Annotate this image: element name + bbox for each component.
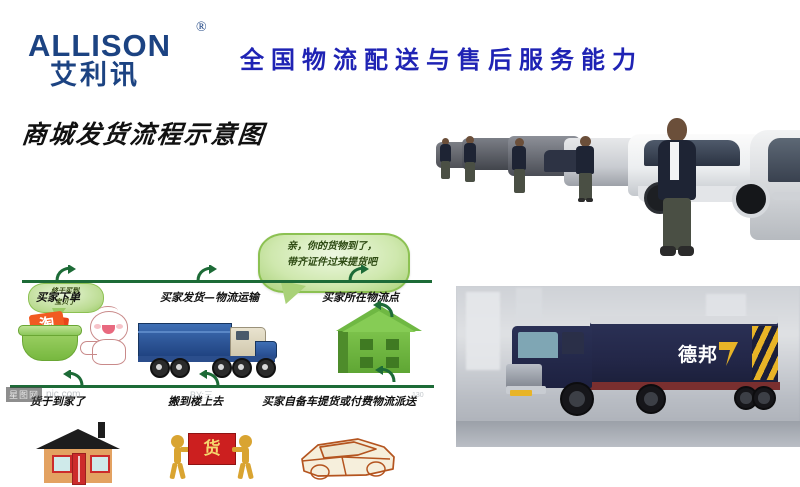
staff-trousers xyxy=(663,198,691,250)
semi-truck-icon xyxy=(138,319,280,377)
speech-bubble-line1: 亲，你的货物到了， xyxy=(262,239,402,255)
truck-wheel xyxy=(170,358,190,378)
truck-wheel xyxy=(752,386,776,410)
customer-hair xyxy=(98,306,118,316)
staff-jacket-placket xyxy=(670,142,679,180)
truck-window xyxy=(236,331,249,340)
staff-member xyxy=(510,138,528,194)
flow-arrow-icon xyxy=(372,301,394,319)
watermark-small-text: BY:三 xyxy=(190,388,213,401)
trailer-top-rail xyxy=(590,316,778,324)
diagram-title: 商城发货流程示意图 xyxy=(20,115,267,151)
cab-side-window xyxy=(562,332,584,354)
van-door-handle xyxy=(772,192,800,200)
deppon-logo-text: 德邦 xyxy=(678,340,718,367)
step-label-row1-0: 买家下单 xyxy=(36,289,80,305)
warehouse-window xyxy=(360,339,373,350)
truck-wheel xyxy=(560,382,594,416)
staff-shoe xyxy=(586,198,593,202)
staff-legs xyxy=(465,162,475,182)
truck-wheel xyxy=(636,384,666,414)
truck-wheel xyxy=(256,358,276,378)
staff-head xyxy=(667,118,687,142)
cargo-box-label: 货 xyxy=(189,434,235,464)
carrier-figure-left xyxy=(168,435,188,479)
customer-cheek-right xyxy=(116,324,123,329)
staff-torso xyxy=(512,146,526,170)
warehouse-window xyxy=(360,357,373,368)
deppon-logistics-truck-photo: 德邦 xyxy=(456,286,800,447)
license-plate xyxy=(510,390,532,396)
staff-torso xyxy=(576,146,594,174)
home-window xyxy=(90,455,110,473)
registered-trademark-icon: ® xyxy=(196,20,207,36)
step-label-row2-2: 买家自备车提货或付费物流派送 xyxy=(262,393,416,409)
two-carriers-icon: 货 xyxy=(168,431,256,483)
watermark-badge-group: 星图网 pic.com xyxy=(6,386,256,402)
speech-bubble-tail-icon xyxy=(276,281,306,308)
warehouse-window xyxy=(386,339,399,350)
carrier-figure-right xyxy=(236,435,256,479)
road-surface xyxy=(456,421,800,447)
slide-root: ALLISON ® 艾利讯 全国物流配送与售后服务能力 商城发货流程示意图 终于… xyxy=(0,0,800,450)
truck-trailer-band xyxy=(138,331,230,333)
flow-rail-top xyxy=(22,280,432,283)
carrier-leg xyxy=(177,463,186,480)
logo-wordmark: ALLISON xyxy=(28,30,171,61)
watermark-url: pic.com xyxy=(46,389,80,400)
logo-chinese-name: 艾利讯 xyxy=(50,62,140,89)
step-label-row1-1: 买家发货—物流运输 xyxy=(160,289,259,305)
shipping-flow-diagram: 商城发货流程示意图 终于买到 宝贝了 淘 xyxy=(0,105,440,420)
service-fleet-photo xyxy=(432,112,800,270)
staff-legs xyxy=(514,169,525,193)
flow-arrow-icon xyxy=(348,265,370,283)
truck-wheel xyxy=(150,358,170,378)
staff-legs xyxy=(441,161,450,179)
customer-cheek-left xyxy=(94,324,101,329)
carrier-leg xyxy=(169,463,177,480)
truck-trailer xyxy=(138,323,232,358)
cab-windshield xyxy=(518,332,558,358)
staff-member-foreground xyxy=(656,118,698,260)
deppon-swoosh-icon xyxy=(718,338,738,366)
basket-lip xyxy=(18,325,82,336)
sketch-car-icon xyxy=(296,431,400,485)
home-door xyxy=(72,453,86,485)
company-logo: ALLISON ® 艾利讯 xyxy=(28,16,218,90)
flow-arrow-icon xyxy=(55,265,77,283)
vehicle-wheel xyxy=(732,180,770,218)
staff-member xyxy=(574,136,596,202)
truck-wheel xyxy=(232,358,252,378)
home-icon xyxy=(36,429,120,487)
carrier-leg xyxy=(245,463,254,480)
customer-arm xyxy=(80,341,97,355)
speech-bubble-text: 亲，你的货物到了， 带齐证件过来提货吧 xyxy=(262,239,402,270)
page-title: 全国物流配送与售后服务能力 xyxy=(240,40,760,75)
flow-arrow-icon xyxy=(374,366,396,384)
watermark-tiny-text: 130 xyxy=(412,392,424,399)
watermark-badge: 星图网 xyxy=(6,387,42,402)
customer-body xyxy=(92,339,126,365)
background-building xyxy=(466,292,500,370)
staff-torso xyxy=(440,144,451,162)
staff-legs xyxy=(579,173,592,200)
home-window xyxy=(52,455,72,473)
happy-customer-icon xyxy=(82,309,134,365)
cargo-box-icon: 货 xyxy=(188,433,236,465)
flow-arrow-icon xyxy=(196,265,218,283)
staff-shoe xyxy=(678,246,694,256)
staff-shoe xyxy=(660,246,676,256)
staff-member xyxy=(462,136,477,184)
shopping-basket-icon: 淘 xyxy=(18,311,80,361)
trailer-hazard-stripes xyxy=(752,326,778,380)
carrier-leg xyxy=(237,463,245,480)
staff-torso xyxy=(464,143,476,163)
home-roof xyxy=(36,429,120,449)
speech-bubble-line2: 带齐证件过来提货吧 xyxy=(262,255,402,271)
staff-member xyxy=(438,138,452,182)
staff-shoe xyxy=(578,198,585,202)
van-windows xyxy=(768,138,800,182)
